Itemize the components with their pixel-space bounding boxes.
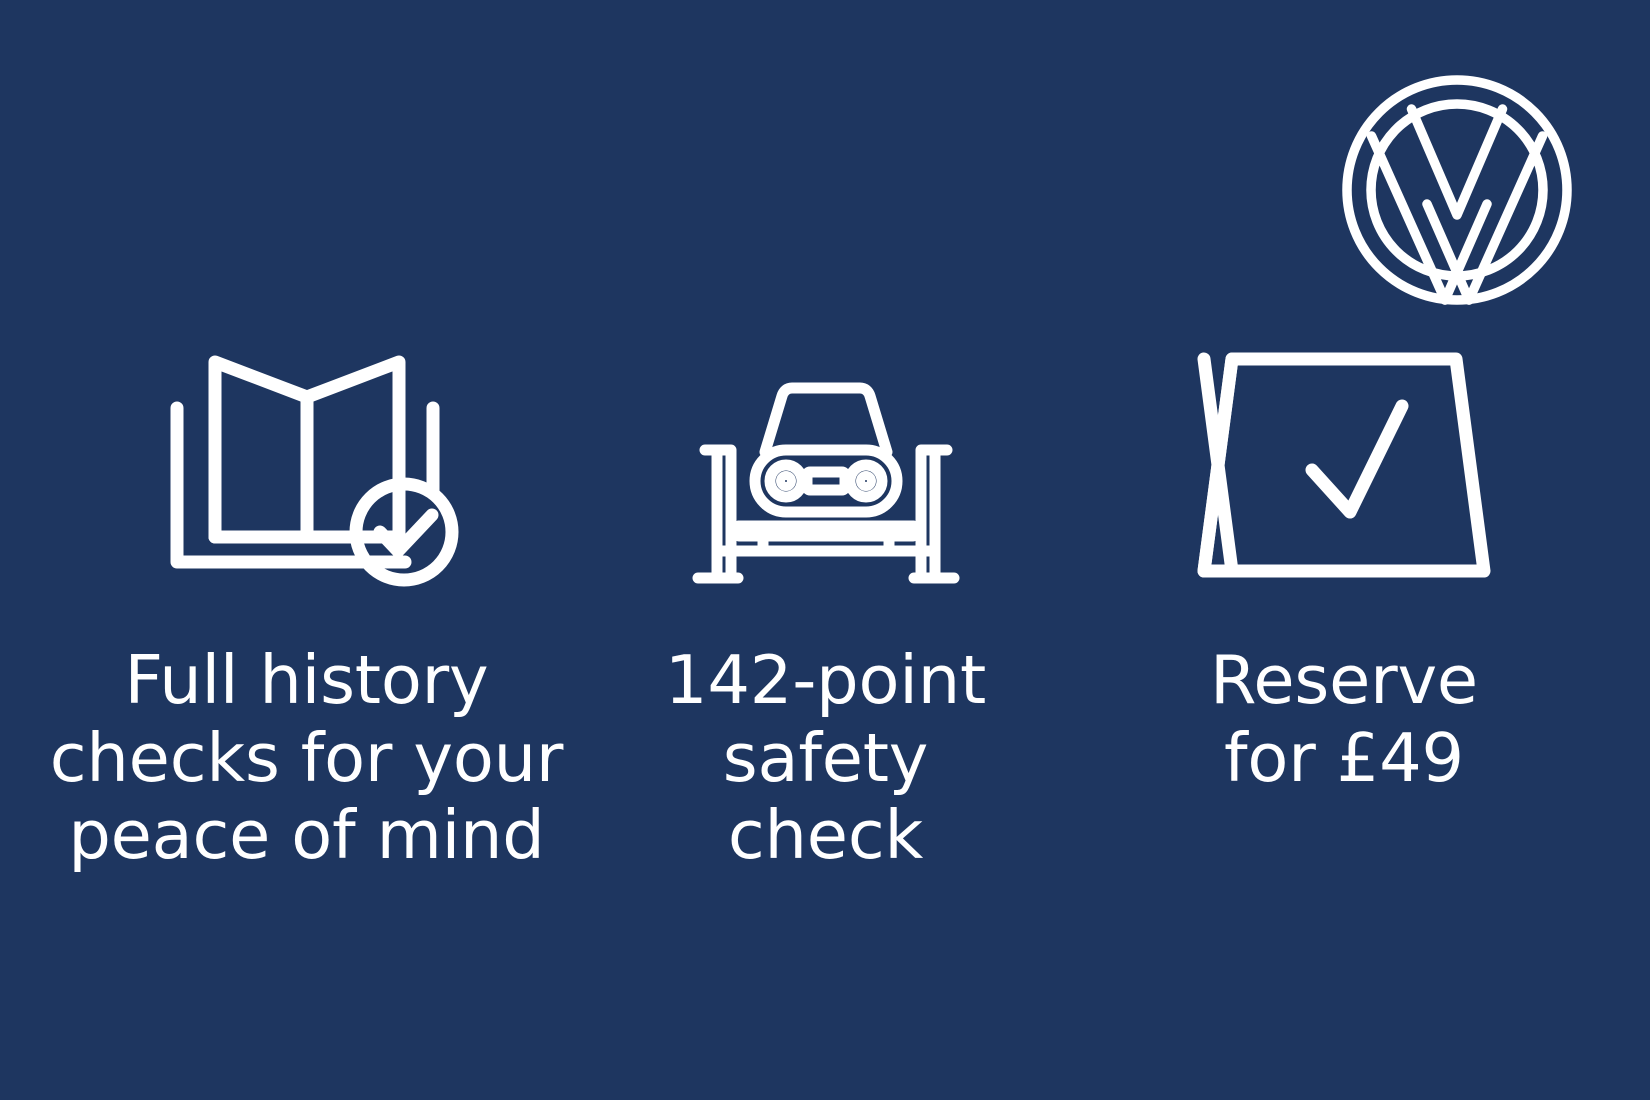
open-book-check-glyph <box>147 340 467 590</box>
open-book-check-icon <box>147 330 467 600</box>
feature-caption-2: 142-point safety check <box>616 642 1036 875</box>
volkswagen-logo <box>1341 74 1573 306</box>
feature-column-2: 142-point safety check <box>613 330 1038 875</box>
car-on-lift-icon <box>681 330 971 600</box>
feature-caption-3: Reserve for £49 <box>1084 642 1604 797</box>
feature-columns: Full history checks for your peace of mi… <box>0 330 1650 970</box>
feature-caption-1: Full history checks for your peace of mi… <box>27 642 587 875</box>
feature-column-3: Reserve for £49 <box>1038 330 1650 797</box>
car-on-lift-glyph <box>681 340 971 590</box>
a-frame-sign-check-glyph <box>1184 340 1504 590</box>
feature-column-1: Full history checks for your peace of mi… <box>0 330 613 875</box>
volkswagen-logo-icon <box>1341 74 1573 306</box>
promo-banner: Full history checks for your peace of mi… <box>0 0 1650 1100</box>
a-frame-sign-check-icon <box>1184 330 1504 600</box>
